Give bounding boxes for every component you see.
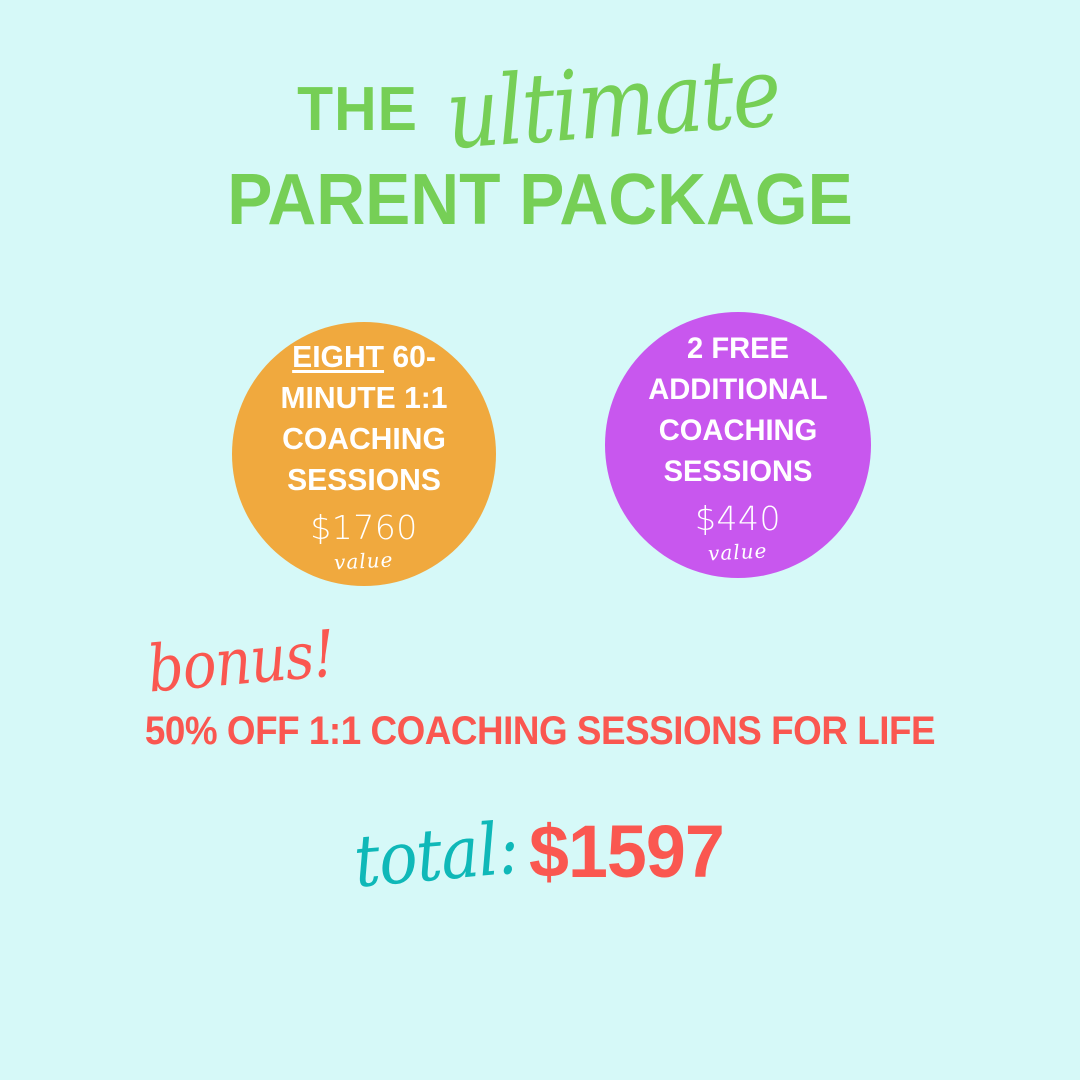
- total-label: total:: [351, 813, 521, 899]
- headline-line-2: PARENT PACKAGE: [32, 164, 1047, 236]
- total-amount: $1597: [529, 815, 724, 889]
- offer-circles: EIGHT 60-MINUTE 1:1 COACHING SESSIONS $1…: [0, 312, 1080, 592]
- offer-title-eight-sessions: EIGHT 60-MINUTE 1:1 COACHING SESSIONS: [253, 337, 474, 501]
- offer-value-label-two-free-sessions: value: [708, 541, 768, 564]
- offer-value-label-eight-sessions: value: [334, 549, 394, 572]
- total-section: total: $1597: [0, 815, 1080, 889]
- promo-poster: THE ultimate PARENT PACKAGE EIGHT 60-MIN…: [0, 0, 1080, 1080]
- offer-circle-two-free-sessions: 2 FREE ADDITIONAL COACHING SESSIONS $440…: [605, 312, 871, 578]
- offer-price-two-free-sessions: $440: [695, 502, 781, 535]
- offer-circle-eight-sessions: EIGHT 60-MINUTE 1:1 COACHING SESSIONS $1…: [232, 322, 496, 586]
- headline-word-the: THE: [297, 79, 418, 141]
- offer-emphasis-word: EIGHT: [292, 339, 384, 374]
- headline-line-1: THE ultimate: [0, 62, 1080, 158]
- page-title: THE ultimate PARENT PACKAGE: [0, 62, 1080, 236]
- offer-title-two-free-sessions: 2 FREE ADDITIONAL COACHING SESSIONS: [628, 328, 847, 492]
- bonus-script-label: bonus!: [145, 623, 337, 703]
- headline-word-ultimate: ultimate: [443, 44, 782, 163]
- bonus-offer-text: 50% OFF 1:1 COACHING SESSIONS FOR LIFE: [43, 711, 1037, 751]
- offer-price-eight-sessions: $1760: [310, 511, 417, 544]
